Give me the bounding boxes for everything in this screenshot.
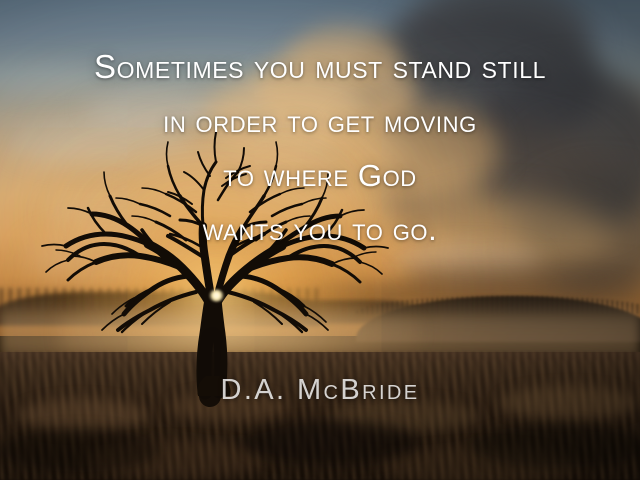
cloud-wisp <box>6 120 196 166</box>
grass-shadow <box>240 420 420 464</box>
cloud-lit <box>140 148 340 232</box>
grass-shadow <box>0 428 160 472</box>
grass-shadow <box>470 424 640 468</box>
quote-poster: Sometimes you must stand still in order … <box>0 0 640 480</box>
sun-core <box>209 289 224 302</box>
cloud-lit <box>330 104 500 200</box>
quote-attribution: D.A. McBride <box>0 374 640 407</box>
